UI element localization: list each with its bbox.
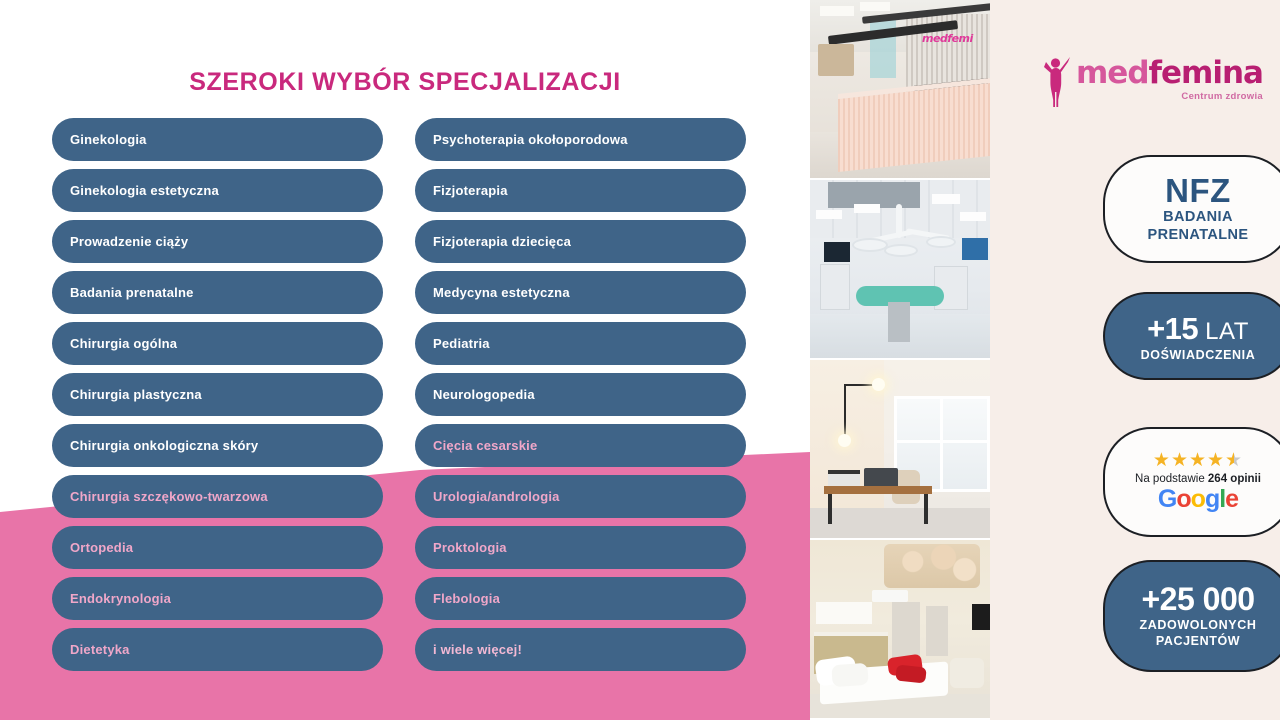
logo-word-femina: femina (1149, 55, 1263, 91)
years-subtitle: DOŚWIADCZENIA (1141, 348, 1256, 362)
list-item-more[interactable]: i wiele więcej! (415, 628, 746, 671)
logo-word-med: med (1076, 55, 1149, 91)
list-item[interactable]: Chirurgia plastyczna (52, 373, 383, 416)
list-item[interactable]: Pediatria (415, 322, 746, 365)
google-letter-g: G (1158, 485, 1176, 513)
medfemina-logo: medfemina Centrum zdrowia (1040, 52, 1280, 114)
stars-full-icon: ★★★★ (1153, 450, 1225, 471)
specializations-panel: SZEROKI WYBÓR SPECJALIZACJI Ginekologia … (0, 0, 810, 720)
review-prefix: Na podstawie (1135, 473, 1208, 485)
logo-tagline: Centrum zdrowia (1076, 91, 1263, 102)
patients-line-1: ZADOWOLONYCH (1140, 617, 1257, 633)
list-item[interactable]: Neurologopedia (415, 373, 746, 416)
list-item[interactable]: Urologia/andrologia (415, 475, 746, 518)
badge-google-rating[interactable]: ★★★★★ Na podstawie 264 opinii Google (1103, 427, 1280, 537)
google-letter-o1: o (1176, 485, 1190, 513)
patient-room-photo (810, 540, 990, 720)
list-item[interactable]: Badania prenatalne (52, 271, 383, 314)
review-count: 264 opinii (1208, 473, 1261, 485)
list-item[interactable]: Ortopedia (52, 526, 383, 569)
nfz-title: NFZ (1165, 174, 1231, 209)
star-rating: ★★★★★ (1153, 451, 1243, 470)
page-title: SZEROKI WYBÓR SPECJALIZACJI (0, 68, 810, 97)
specializations-columns: Ginekologia Ginekologia estetyczna Prowa… (52, 118, 758, 671)
badge-nfz[interactable]: NFZ BADANIA PRENATALNE (1103, 155, 1280, 263)
logo-wordmark: medfemina Centrum zdrowia (1076, 52, 1263, 102)
list-item[interactable]: Fizjoterapia dziecięca (415, 220, 746, 263)
patients-number: +25 000 (1141, 583, 1254, 617)
google-letter-o2: o (1191, 485, 1205, 513)
list-item[interactable]: Dietetyka (52, 628, 383, 671)
nfz-line-2: PRENATALNE (1148, 226, 1249, 244)
list-item[interactable]: Chirurgia szczękowo-twarzowa (52, 475, 383, 518)
list-item[interactable]: Proktologia (415, 526, 746, 569)
list-item[interactable]: Prowadzenie ciąży (52, 220, 383, 263)
badge-years-experience[interactable]: +15 LAT DOŚWIADCZENIA (1103, 292, 1280, 380)
google-letter-g2: g (1205, 485, 1219, 513)
list-item[interactable]: Endokrynologia (52, 577, 383, 620)
badge-patients-count[interactable]: +25 000 ZADOWOLONYCH PACJENTÓW (1103, 560, 1280, 672)
nfz-line-1: BADANIA (1163, 208, 1233, 226)
consultation-room-photo (810, 360, 990, 540)
google-letter-e: e (1225, 485, 1238, 513)
patients-line-2: PACJENTÓW (1156, 633, 1240, 649)
list-item[interactable]: Cięcia cesarskie (415, 424, 746, 467)
woman-figure-icon (1040, 52, 1074, 108)
specializations-column-left: Ginekologia Ginekologia estetyczna Prowa… (52, 118, 383, 671)
list-item[interactable]: Chirurgia onkologiczna skóry (52, 424, 383, 467)
list-item[interactable]: Psychoterapia okołoporodowa (415, 118, 746, 161)
list-item[interactable]: Ginekologia estetyczna (52, 169, 383, 212)
list-item[interactable]: Chirurgia ogólna (52, 322, 383, 365)
years-number: +15 (1147, 311, 1198, 347)
specializations-column-right: Psychoterapia okołoporodowa Fizjoterapia… (415, 118, 746, 671)
list-item[interactable]: Flebologia (415, 577, 746, 620)
reception-logo-sign: medfemi (922, 32, 984, 48)
clinic-photo-strip: medfemi (810, 0, 990, 720)
years-headline: +15 LAT (1147, 311, 1249, 347)
google-logo: Google (1158, 486, 1238, 514)
slide-root: SZEROKI WYBÓR SPECJALIZACJI Ginekologia … (0, 0, 1280, 720)
list-item[interactable]: Ginekologia (52, 118, 383, 161)
years-unit: LAT (1205, 318, 1249, 346)
reception-desk-photo: medfemi (810, 0, 990, 180)
list-item[interactable]: Fizjoterapia (415, 169, 746, 212)
star-half-icon: ★ (1225, 450, 1243, 471)
list-item[interactable]: Medycyna estetyczna (415, 271, 746, 314)
operating-room-photo (810, 180, 990, 360)
review-count-label: Na podstawie 264 opinii (1135, 473, 1261, 485)
